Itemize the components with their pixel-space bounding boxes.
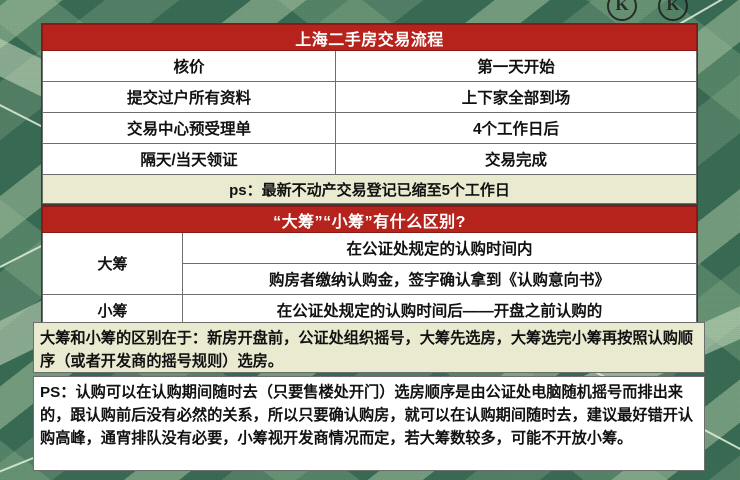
flow-timing-cell: 上下家全部到场 [336,82,697,113]
chip-label-small: 小筹 [43,295,183,326]
flow-step-cell: 交易中心预受理单 [43,113,336,144]
table-row: 交易中心预受理单 4个工作日后 [43,113,697,144]
flow-table-panel: 上海二手房交易流程 核价 第一天开始 提交过户所有资料 上下家全部到场 交易中心… [42,24,697,204]
table-row: 小筹 在公证处规定的认购时间后——开盘之前认购的 [43,295,697,326]
chip-description-cell: 在公证处规定的认购时间内 [183,233,697,264]
flow-timing-cell: 第一天开始 [336,51,697,82]
difference-note: 大筹和小筹的区别在于：新房开盘前，公证处组织摇号，大筹先选房，大筹选完小筹再按照… [33,322,705,373]
chips-table-title-row: “大筹”“小筹”有什么区别? [43,207,697,233]
chip-description-cell: 在公证处规定的认购时间后——开盘之前认购的 [183,295,697,326]
flow-timing-cell: 4个工作日后 [336,113,697,144]
flow-step-cell: 核价 [43,51,336,82]
table-row: 核价 第一天开始 [43,51,697,82]
table-row: 大筹 在公证处规定的认购时间内 [43,233,697,264]
content-layer: 上海二手房交易流程 核价 第一天开始 提交过户所有资料 上下家全部到场 交易中心… [0,0,740,480]
flow-table: 上海二手房交易流程 核价 第一天开始 提交过户所有资料 上下家全部到场 交易中心… [42,24,697,204]
ps-note: PS：认购可以在认购期间随时去（只要售楼处开门）选房顺序是由公证处电脑随机摇号而… [33,376,705,471]
chip-label-big: 大筹 [43,233,183,295]
table-row: 隔天/当天领证 交易完成 [43,144,697,175]
table-row: 提交过户所有资料 上下家全部到场 [43,82,697,113]
flow-step-cell: 提交过户所有资料 [43,82,336,113]
flow-step-cell: 隔天/当天领证 [43,144,336,175]
poster-canvas: K K 上海二手房交易流程 核价 第一天开始 提交过户所有资料 上下家全部到场 [0,0,740,480]
chip-description-cell: 购房者缴纳认购金，签字确认拿到《认购意向书》 [183,264,697,295]
flow-timing-cell: 交易完成 [336,144,697,175]
chips-table: “大筹”“小筹”有什么区别? 大筹 在公证处规定的认购时间内 购房者缴纳认购金，… [42,206,697,326]
flow-table-footnote: ps：最新不动产交易登记已缩至5个工作日 [43,175,697,204]
chips-table-title: “大筹”“小筹”有什么区别? [43,207,697,233]
flow-table-footnote-row: ps：最新不动产交易登记已缩至5个工作日 [43,175,697,204]
flow-table-title: 上海二手房交易流程 [43,25,697,51]
chips-table-panel: “大筹”“小筹”有什么区别? 大筹 在公证处规定的认购时间内 购房者缴纳认购金，… [42,206,697,326]
flow-table-title-row: 上海二手房交易流程 [43,25,697,51]
